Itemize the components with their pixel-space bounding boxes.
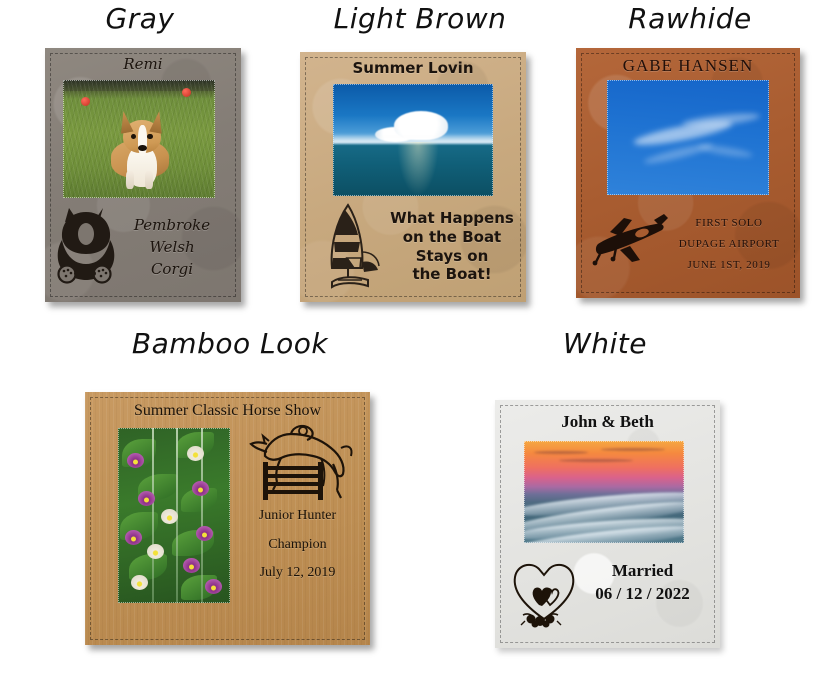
swatch-title-white: White	[440, 327, 770, 360]
photo-window-gray	[63, 80, 215, 198]
photo-sunset-cloud-sea	[524, 441, 684, 543]
photo-window-white	[524, 441, 684, 543]
frame-caption-bamboo-look: Junior Hunter Champion July 12, 2019	[235, 502, 360, 588]
photo-blue-sky	[607, 80, 769, 195]
photo-purple-pansies	[118, 428, 230, 603]
frame-top-text-light-brown: Summer Lovin	[300, 60, 526, 77]
photo-window-bamboo-look	[118, 428, 230, 603]
picture-frame-bamboo-look[interactable]: Summer Classic Horse Show	[85, 392, 370, 645]
swatch-title-gray: Gray	[0, 2, 280, 35]
swatch-bamboo-look: Bamboo Look Summer Classic Horse Show	[70, 325, 390, 684]
frame-top-text-rawhide: GABE HANSEN	[576, 56, 800, 76]
sailboat-icon	[318, 202, 390, 292]
frame-caption-rawhide: FIRST SOLO DUPAGE AIRPORT JUNE 1ST, 2019	[664, 213, 794, 276]
photo-window-light-brown	[333, 84, 493, 196]
frame-top-text-gray: Remi	[45, 56, 241, 73]
swatch-title-rawhide: Rawhide	[555, 2, 825, 35]
photo-ocean-with-cloud	[333, 84, 493, 196]
swatch-gray: Gray Remi	[0, 0, 280, 320]
picture-frame-light-brown[interactable]: Summer Lovin What Happens on the Boat St…	[300, 52, 526, 302]
swatch-rawhide: Rawhide GABE HANSEN FIRST SOLO DUPAGE AI…	[555, 0, 825, 320]
photo-corgi-on-grass	[63, 80, 215, 198]
swatch-light-brown: Light Brown Summer Lovin What Happens o	[280, 0, 560, 320]
heart-with-roses-icon	[509, 555, 579, 630]
picture-frame-white[interactable]: John & Beth Married	[495, 400, 720, 648]
jumping-horse-icon	[245, 422, 355, 502]
photo-window-rawhide	[607, 80, 769, 195]
swatch-title-light-brown: Light Brown	[280, 2, 560, 35]
picture-frame-rawhide[interactable]: GABE HANSEN FIRST SOLO DUPAGE AIRPORT JU…	[576, 48, 800, 298]
frame-caption-gray: Pembroke Welsh Corgi	[113, 215, 231, 280]
corgi-silhouette-icon	[53, 206, 119, 286]
swatch-white: White John & Beth	[440, 325, 770, 684]
frame-caption-light-brown: What Happens on the Boat Stays on the Bo…	[388, 209, 516, 284]
airplane-icon	[590, 210, 670, 268]
corgi-dog	[109, 111, 176, 189]
swatch-title-bamboo-look: Bamboo Look	[70, 327, 390, 360]
frame-caption-white: Married 06 / 12 / 2022	[575, 560, 710, 606]
picture-frame-gray[interactable]: Remi	[45, 48, 241, 302]
frame-top-text-bamboo-look: Summer Classic Horse Show	[85, 402, 370, 420]
frame-top-text-white: John & Beth	[495, 412, 720, 432]
